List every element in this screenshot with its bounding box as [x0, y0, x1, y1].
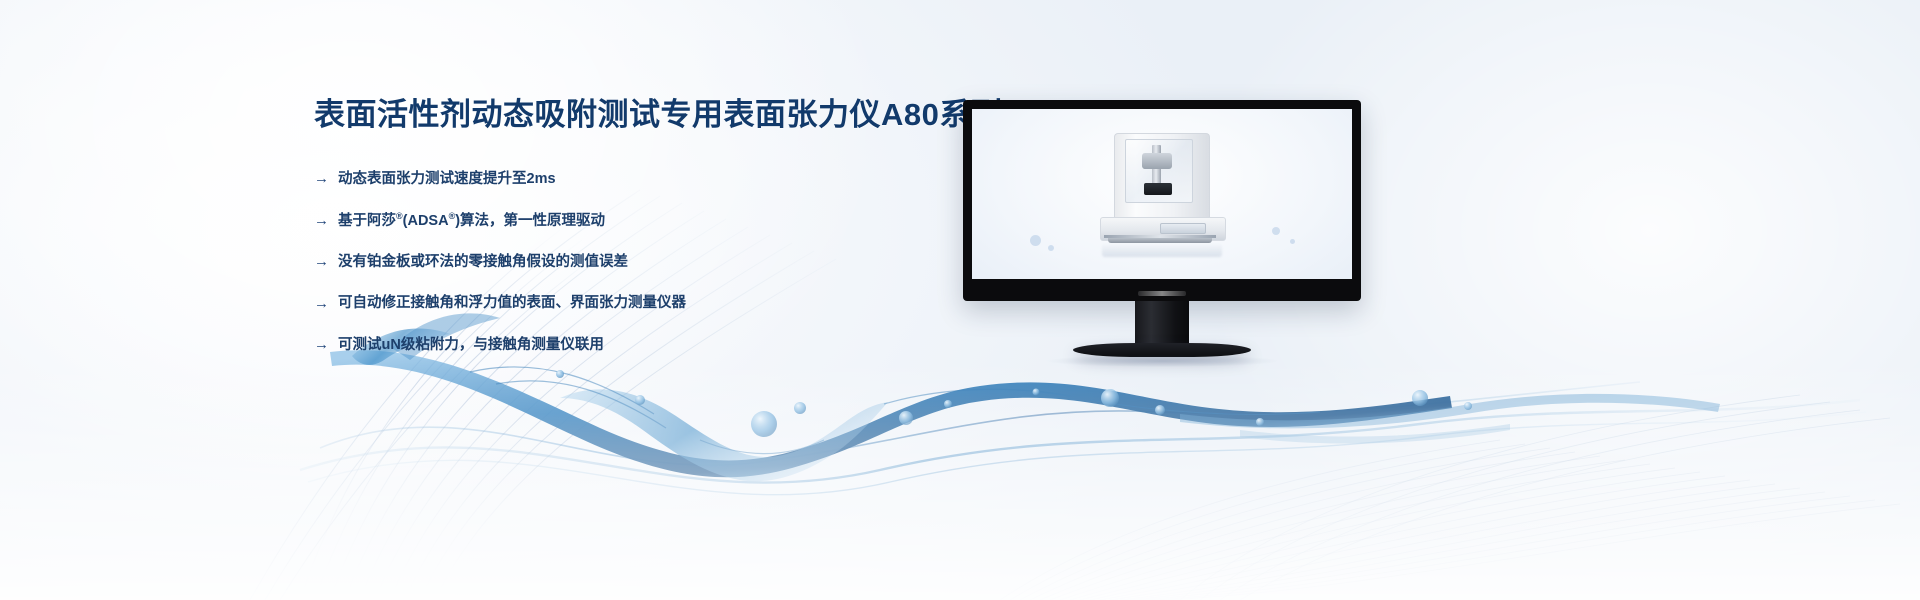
- arrow-right-icon: →: [314, 335, 329, 355]
- list-item: → 基于阿莎®(ADSA®)算法，第一性原理驱动: [314, 211, 1074, 231]
- monitor-shadow: [1047, 355, 1277, 367]
- bottom-fade-overlay: [0, 360, 1920, 600]
- list-item-label: 可测试uN级粘附力，与接触角测量仪联用: [338, 336, 604, 355]
- hero-banner: 表面活性剂动态吸附测试专用表面张力仪A80系列 → 动态表面张力测试速度提升至2…: [0, 0, 1920, 600]
- list-item-label: 基于阿莎®(ADSA®)算法，第一性原理驱动: [338, 211, 605, 231]
- monitor-bezel: [963, 100, 1361, 301]
- list-item-label: 没有铂金板或环法的零接触角假设的测值误差: [338, 253, 628, 272]
- monitor-stand-neck: [1135, 301, 1189, 347]
- feature-list: → 动态表面张力测试速度提升至2ms → 基于阿莎®(ADSA®)算法，第一性原…: [314, 169, 1074, 355]
- decorative-bubble: [1048, 245, 1054, 251]
- list-item-label: 动态表面张力测试速度提升至2ms: [338, 170, 556, 189]
- page-title: 表面活性剂动态吸附测试专用表面张力仪A80系列: [314, 96, 1074, 133]
- decorative-bubble: [1272, 227, 1280, 235]
- instrument-sample-pan: [1144, 183, 1172, 195]
- monitor-brand-logo: [1138, 291, 1186, 296]
- list-item: → 动态表面张力测试速度提升至2ms: [314, 169, 1074, 189]
- arrow-right-icon: →: [314, 294, 329, 314]
- instrument-cap: [1142, 153, 1172, 169]
- arrow-right-icon: →: [314, 211, 329, 231]
- list-item: → 可测试uN级粘附力，与接触角测量仪联用: [314, 335, 1074, 355]
- instrument-reflection: [1102, 243, 1222, 257]
- list-item-label: 可自动修正接触角和浮力值的表面、界面张力测量仪器: [338, 294, 686, 313]
- registered-mark: ®: [396, 211, 403, 221]
- decorative-bubble: [1290, 239, 1295, 244]
- arrow-right-icon: →: [314, 252, 329, 272]
- instrument-display: [1160, 223, 1206, 234]
- monitor-screen: [972, 109, 1352, 279]
- product-monitor-image: [963, 100, 1361, 301]
- decorative-bubble: [1030, 235, 1041, 246]
- list-item: → 可自动修正接触角和浮力值的表面、界面张力测量仪器: [314, 294, 1074, 314]
- arrow-right-icon: →: [314, 169, 329, 189]
- hero-text-block: 表面活性剂动态吸附测试专用表面张力仪A80系列 → 动态表面张力测试速度提升至2…: [314, 96, 1074, 377]
- list-item: → 没有铂金板或环法的零接触角假设的测值误差: [314, 252, 1074, 272]
- tensiometer-instrument: [1098, 131, 1228, 257]
